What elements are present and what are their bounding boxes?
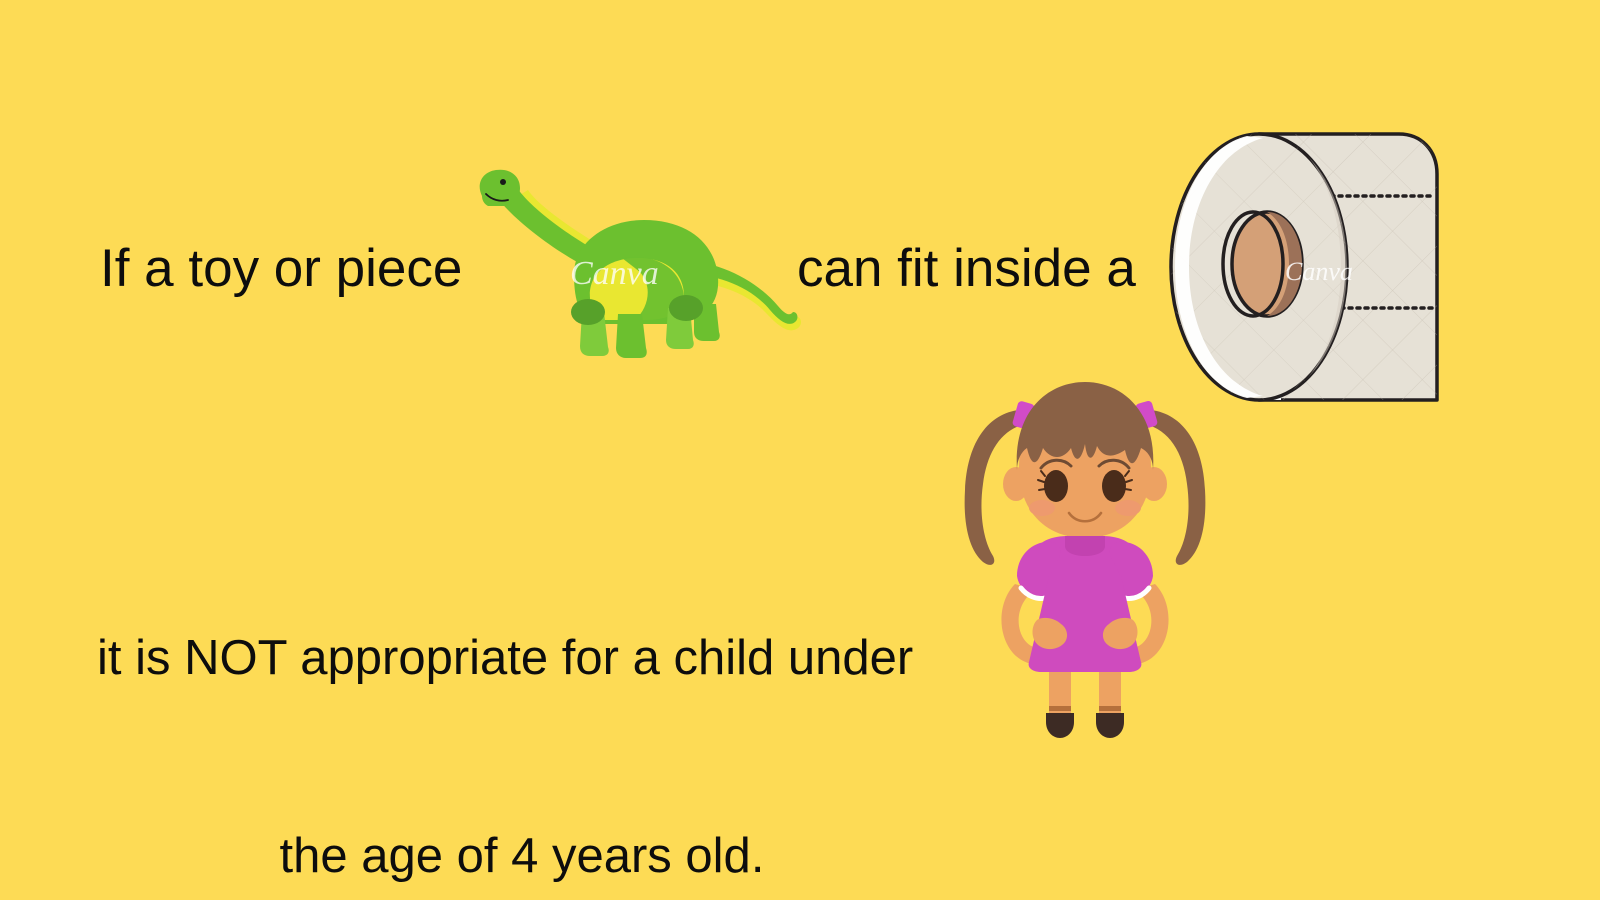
slide-canvas: Canva <box>0 0 1600 900</box>
headline-line-3: it is NOT appropriate for a child under <box>97 625 947 691</box>
girl-blush-left-icon <box>1029 500 1055 516</box>
headline-lower-block: it is NOT appropriate for a child under … <box>97 493 947 900</box>
girl-eye-right-icon <box>1102 470 1126 502</box>
dinosaur-head-icon <box>480 170 520 206</box>
canva-watermark: Canva <box>570 255 659 292</box>
girl-collar-icon <box>1065 536 1105 556</box>
girl-dress-icon <box>1017 536 1153 672</box>
headline-line-2: can fit inside a <box>797 238 1136 300</box>
headline-line-4: the age of 4 years old. <box>97 823 947 889</box>
canva-watermark: Canva <box>1285 257 1353 286</box>
girl-illustration <box>945 372 1225 740</box>
girl-blush-right-icon <box>1115 500 1141 516</box>
dinosaur-eye-icon <box>500 179 506 185</box>
girl-eye-left-icon <box>1044 470 1068 502</box>
girl-shoes-icon <box>1046 713 1124 738</box>
toilet-paper-illustration: Canva <box>1155 112 1455 407</box>
headline-line-1: If a toy or piece <box>100 238 462 300</box>
dinosaur-illustration: Canva <box>462 162 812 362</box>
